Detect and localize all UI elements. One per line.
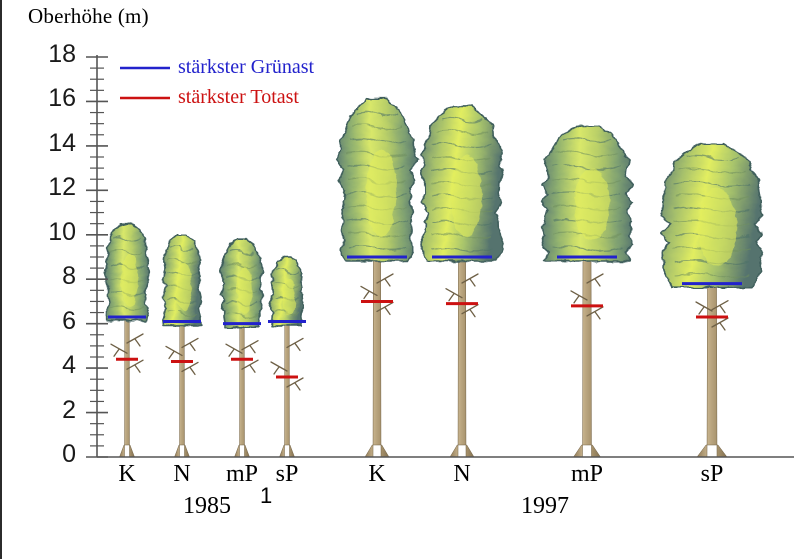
legend-label-green-branch: stärkster Grünast bbox=[178, 56, 314, 79]
group-label-1997: 1997 bbox=[521, 493, 569, 520]
legend-label-dead-branch: stärkster Totast bbox=[178, 86, 299, 109]
legend-lines bbox=[2, 0, 800, 559]
footnote-mark: 1 bbox=[260, 483, 272, 509]
figure-canvas: Oberhöhe (m) bbox=[2, 0, 800, 559]
group-label-1985: 1985 bbox=[183, 493, 231, 520]
